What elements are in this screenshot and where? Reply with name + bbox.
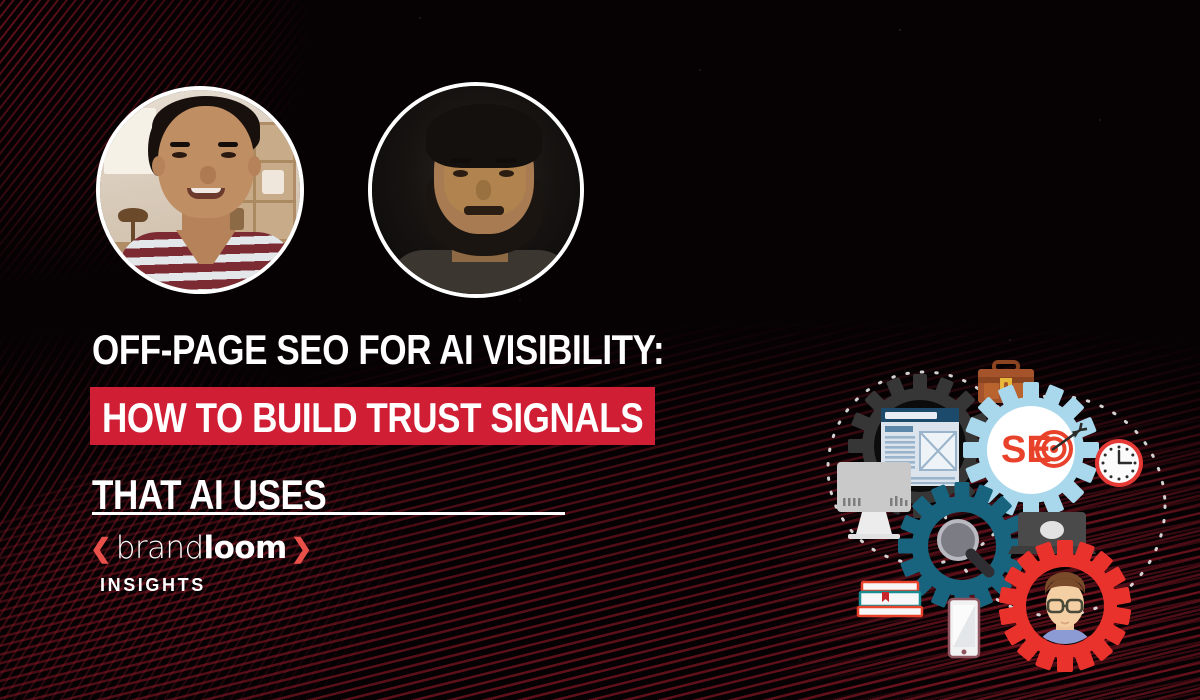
divider-rule: [92, 512, 565, 515]
magnifying-glass-icon: [939, 521, 989, 572]
head-shape: [158, 106, 254, 218]
headline-block: OFF-PAGE SEO FOR AI VISIBILITY: HOW TO B…: [92, 330, 832, 510]
user-gear: [999, 540, 1132, 672]
nose-shape: [200, 166, 216, 184]
books-icon: [858, 582, 922, 616]
smartphone-icon: [949, 599, 979, 657]
logo-wordmark: ❮ brand loom ❯: [90, 530, 312, 566]
mouth-shape: [464, 206, 504, 215]
headline-line-3: THAT AI USES: [92, 475, 832, 516]
eyebrow-shape: [450, 158, 471, 163]
eyebrow-shape: [218, 142, 238, 147]
banner-canvas: OFF-PAGE SEO FOR AI VISIBILITY: HOW TO B…: [0, 0, 1200, 700]
chevron-right-icon: ❯: [291, 535, 313, 561]
ear-shape: [152, 156, 165, 176]
headline-line-2: HOW TO BUILD TRUST SIGNALS: [102, 398, 643, 439]
speaker-right-photo: [372, 86, 580, 294]
brandloom-logo[interactable]: ❮ brand loom ❯ INSIGHTS: [90, 530, 312, 596]
person-avatar-icon: [1037, 572, 1093, 650]
avatar: [368, 82, 584, 298]
eyebrow-shape: [496, 158, 517, 163]
headline-line-1: OFF-PAGE SEO FOR AI VISIBILITY:: [92, 330, 832, 371]
hair-shape: [426, 104, 542, 168]
speaker-left-photo: [100, 90, 300, 290]
eye-shape: [221, 152, 236, 158]
headline-highlight-band: HOW TO BUILD TRUST SIGNALS: [90, 387, 655, 445]
eye-shape: [172, 152, 187, 158]
monitor-icon: [837, 462, 911, 539]
nose-shape: [476, 180, 491, 200]
eye-shape: [453, 170, 468, 177]
ear-shape: [248, 156, 261, 176]
avatar: [96, 86, 304, 294]
logo-loom-text: loom: [204, 530, 287, 566]
chevron-left-icon: ❮: [90, 535, 112, 561]
seo-gears-illustration: SE: [812, 328, 1182, 678]
clock-icon: [1095, 439, 1143, 487]
logo-tagline: INSIGHTS: [100, 575, 312, 596]
shelf-object: [262, 170, 284, 194]
eyebrow-shape: [170, 142, 190, 147]
teeth-shape: [191, 188, 221, 193]
logo-brand-text: brand: [116, 530, 204, 566]
eye-shape: [499, 170, 514, 177]
